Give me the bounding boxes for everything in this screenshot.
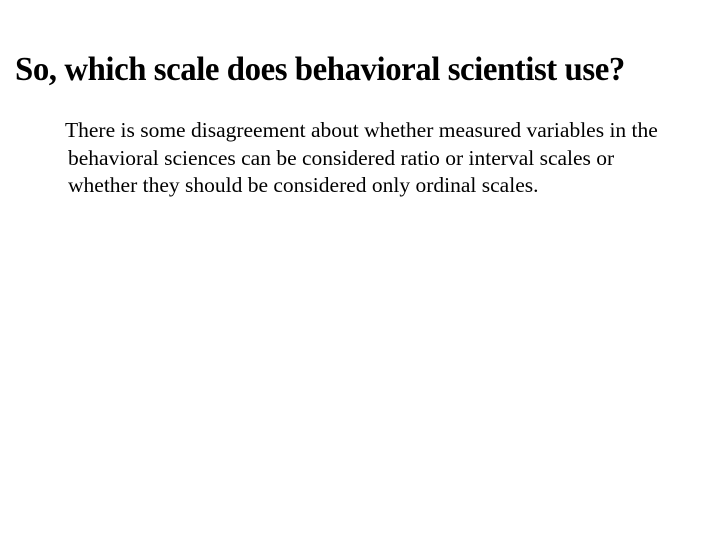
slide-title: So, which scale does behavioral scientis… — [15, 50, 691, 90]
slide: So, which scale does behavioral scientis… — [0, 0, 719, 539]
slide-body: There is some disagreement about whether… — [68, 117, 678, 200]
body-paragraph: There is some disagreement about whether… — [68, 117, 678, 200]
